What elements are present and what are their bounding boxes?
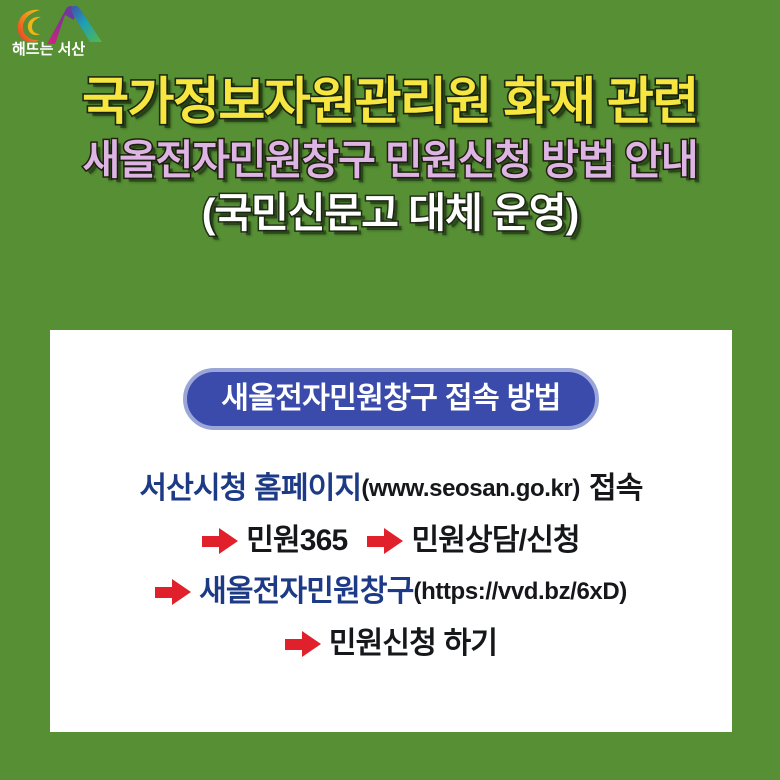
right-arrow-icon — [155, 579, 191, 605]
step-1-action: 접속 — [589, 472, 643, 507]
step-2-menu-minwon365: 민원365 — [246, 524, 347, 559]
brand-logo-text: 해뜨는 서산 — [12, 42, 85, 57]
step-3-portal-name: 새올전자민원창구 — [199, 575, 413, 610]
page-title-main: 국가정보자원관리원 화재 관련 — [0, 74, 780, 129]
brand-logo: 해뜨는 서산 — [8, 4, 128, 66]
headline-block: 국가정보자원관리원 화재 관련 새올전자민원창구 민원신청 방법 안내 (국민신… — [0, 74, 780, 236]
step-1-site-name: 서산시청 홈페이지 — [139, 472, 361, 507]
sunrise-seosan-logo-icon — [14, 4, 110, 46]
steps-list: 서산시청 홈페이지 (www.seosan.go.kr) 접속 민원365 민원… — [50, 472, 732, 661]
right-arrow-icon — [285, 631, 321, 657]
badge-row: 새올전자민원창구 접속 방법 — [50, 368, 732, 430]
page-title-note: (국민신문고 대체 운영) — [0, 191, 780, 236]
step-1-site-url: (www.seosan.go.kr) — [361, 475, 580, 503]
content-card: 새올전자민원창구 접속 방법 서산시청 홈페이지 (www.seosan.go.… — [50, 330, 732, 732]
step-4-apply-action: 민원신청 하기 — [329, 627, 497, 662]
right-arrow-icon — [367, 528, 403, 554]
step-item: 새올전자민원창구 (https://vvd.bz/6xD) — [50, 575, 732, 610]
access-method-badge-label: 새올전자민원창구 접속 방법 — [221, 384, 560, 414]
step-3-portal-url: (https://vvd.bz/6xD) — [414, 578, 627, 606]
access-method-badge: 새올전자민원창구 접속 방법 — [183, 368, 598, 430]
step-item: 민원365 민원상담/신청 — [50, 524, 732, 559]
right-arrow-icon — [202, 528, 238, 554]
step-item: 민원신청 하기 — [50, 627, 732, 662]
step-2-menu-consult-apply: 민원상담/신청 — [411, 524, 579, 559]
poster-root: 해뜨는 서산 국가정보자원관리원 화재 관련 새올전자민원창구 민원신청 방법 … — [0, 0, 780, 780]
step-item: 서산시청 홈페이지 (www.seosan.go.kr) 접속 — [50, 472, 732, 507]
page-title-sub: 새올전자민원창구 민원신청 방법 안내 — [0, 138, 780, 183]
